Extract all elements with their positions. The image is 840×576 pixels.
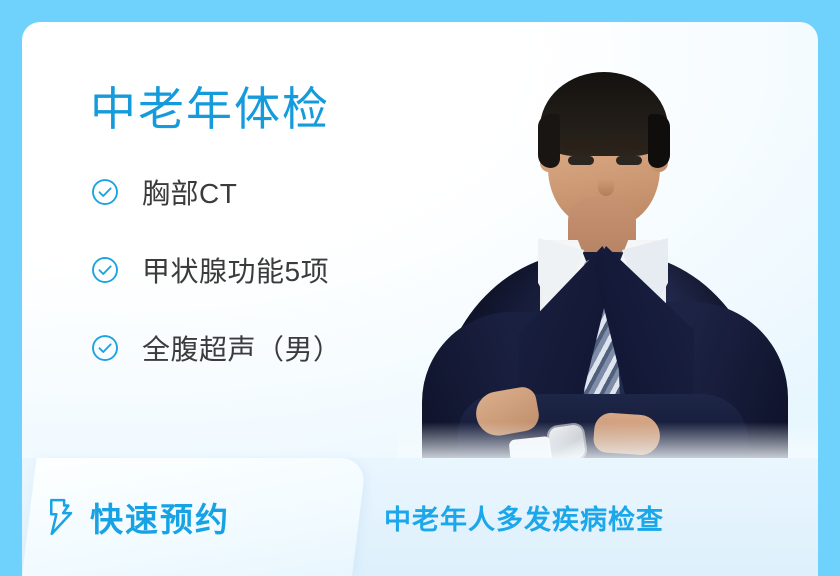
quick-booking-button[interactable]: 快速预约 (46, 458, 230, 576)
list-item: 胸部CT (90, 170, 490, 214)
feature-label: 胸部CT (142, 172, 237, 212)
health-checkup-banner: 中老年体检 胸部CT 甲状腺功能5项 (0, 0, 840, 576)
tagline-text: 中老年人多发疾病检查 (384, 498, 664, 537)
photo-hair-side-left (538, 114, 560, 168)
feature-label: 全腹超声（男） (142, 328, 342, 368)
photo-eye-left (568, 156, 594, 165)
lightning-bolt-icon (46, 498, 76, 536)
banner-card: 中老年体检 胸部CT 甲状腺功能5项 (22, 22, 818, 576)
photo-nose (598, 168, 614, 196)
banner-content: 中老年体检 胸部CT 甲状腺功能5项 (90, 86, 490, 404)
quick-booking-label: 快速预约 (90, 493, 230, 541)
feature-list: 胸部CT 甲状腺功能5项 全腹超声（男） (90, 170, 490, 370)
tagline-wrap: 中老年人多发疾病检查 (384, 458, 664, 576)
photo-eye-right (616, 156, 642, 165)
check-circle-icon (90, 177, 120, 207)
check-circle-icon (90, 333, 120, 363)
list-item: 全腹超声（男） (90, 326, 490, 370)
page-title: 中老年体检 (90, 86, 490, 132)
photo-hair-side-right (648, 114, 670, 168)
list-item: 甲状腺功能5项 (90, 248, 490, 292)
check-circle-icon (90, 255, 120, 285)
feature-label: 甲状腺功能5项 (142, 250, 329, 290)
bottom-bar: 快速预约 中老年人多发疾病检查 (22, 458, 818, 576)
